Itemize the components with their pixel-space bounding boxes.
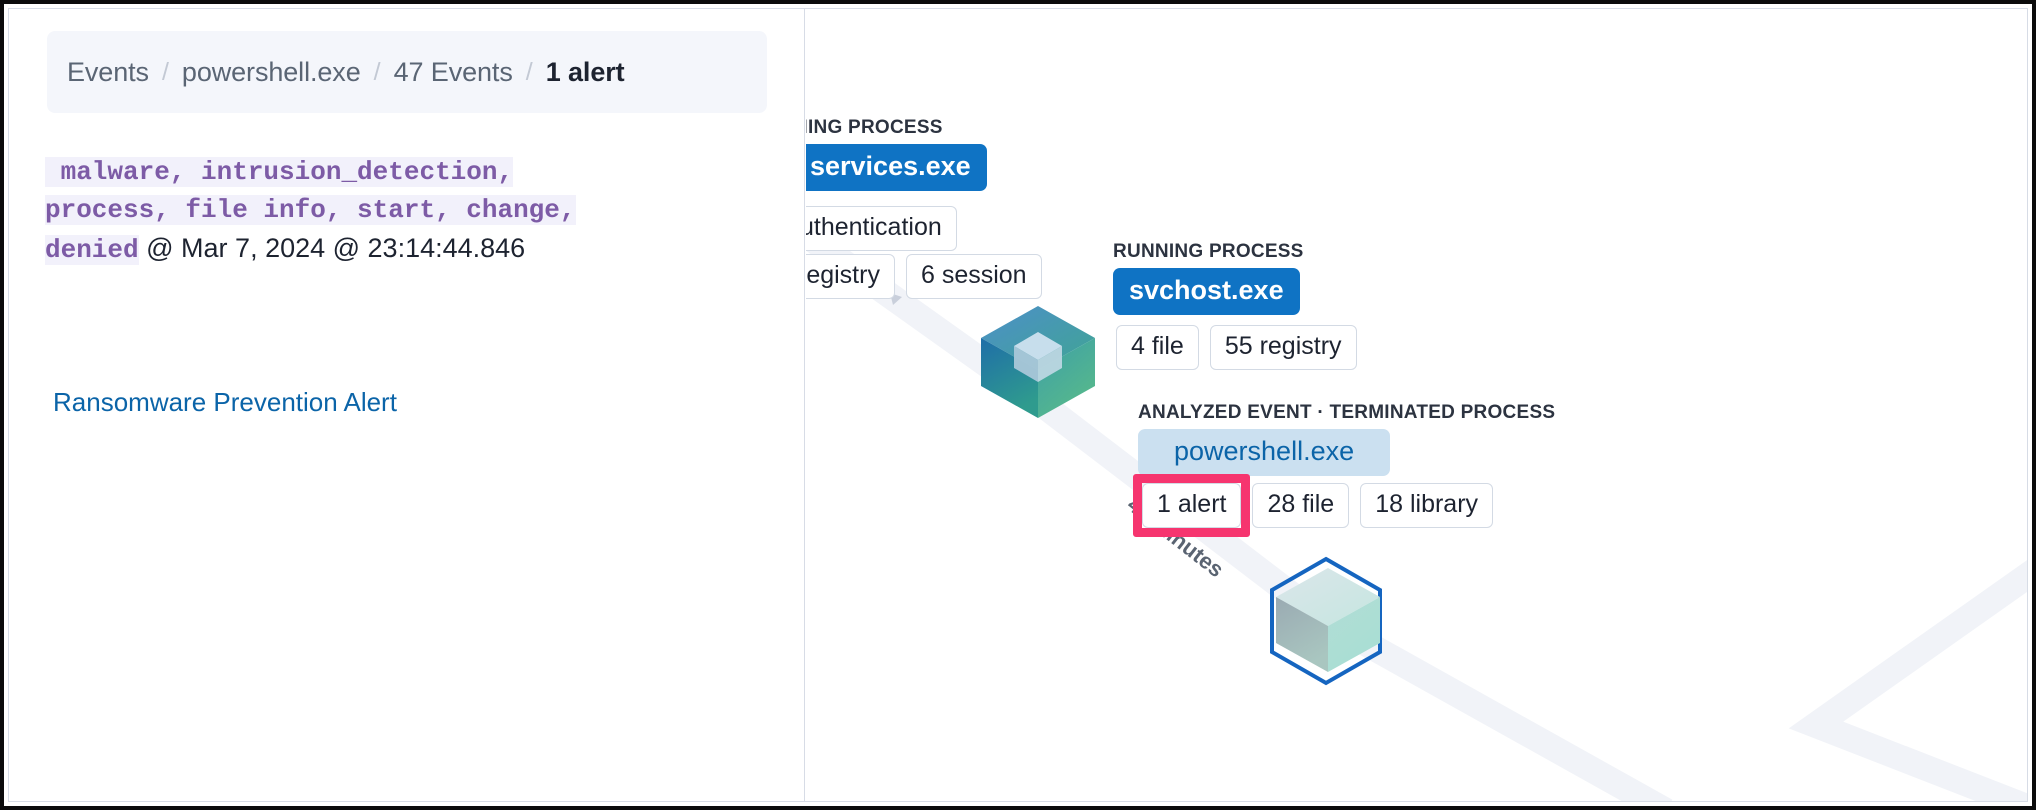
badge-registry[interactable]: registry xyxy=(806,254,895,299)
svchost-cube-icon xyxy=(977,302,1099,422)
node-powershell[interactable]: ANALYZED EVENT · TERMINATED PROCESS powe… xyxy=(1138,402,1555,476)
edge-powershell-down-right xyxy=(1816,569,2027,801)
badge-6-session[interactable]: 6 session xyxy=(906,254,1042,299)
alert-rule-link[interactable]: Ransomware Prevention Alert xyxy=(53,387,397,418)
event-tags-line-2: process, file info, start, change, xyxy=(45,195,576,225)
node-powershell-kind: ANALYZED EVENT · TERMINATED PROCESS xyxy=(1138,402,1555,424)
badge-4-file[interactable]: 4 file xyxy=(1116,325,1199,370)
badge-18-library[interactable]: 18 library xyxy=(1360,483,1493,528)
event-summary-line-1: malware, intrusion_detection, xyxy=(45,154,775,192)
breadcrumb-item-alert-count[interactable]: 1 alert xyxy=(546,57,625,88)
node-svchost-name[interactable]: svchost.exe xyxy=(1113,268,1300,315)
node-services-name[interactable]: services.exe xyxy=(806,144,987,191)
breadcrumb-item-process[interactable]: powershell.exe xyxy=(182,57,361,88)
node-powershell-name[interactable]: powershell.exe xyxy=(1138,429,1390,476)
node-services-kind: NING PROCESS xyxy=(806,117,987,139)
badge-row-svchost-1: 4 file 55 registry xyxy=(1116,325,1357,370)
badge-1-alert[interactable]: 1 alert xyxy=(1142,483,1241,528)
event-summary: malware, intrusion_detection, process, f… xyxy=(45,154,775,270)
badge-authentication[interactable]: uthentication xyxy=(806,206,957,251)
powershell-cube-icon xyxy=(1272,564,1384,676)
node-services[interactable]: NING PROCESS services.exe xyxy=(806,117,987,191)
event-tags-line-3: denied xyxy=(45,235,139,265)
breadcrumb-separator: / xyxy=(361,58,394,87)
node-svchost-kind: RUNNING PROCESS xyxy=(1113,241,1304,263)
event-summary-line-3: denied @ Mar 7, 2024 @ 23:14:44.846 xyxy=(45,229,775,270)
timestamp-separator: @ xyxy=(139,233,181,263)
breadcrumb-separator: / xyxy=(513,58,546,87)
breadcrumb-item-events-count[interactable]: 47 Events xyxy=(394,57,513,88)
process-graph-panel[interactable]: NING PROCESS services.exe uthentication … xyxy=(806,9,2027,801)
breadcrumb-separator: / xyxy=(149,58,182,87)
badge-28-file[interactable]: 28 file xyxy=(1252,483,1349,528)
app-viewport: Events / powershell.exe / 47 Events / 1 … xyxy=(8,8,2028,802)
screenshot-frame: Events / powershell.exe / 47 Events / 1 … xyxy=(0,0,2036,810)
badge-55-registry[interactable]: 55 registry xyxy=(1210,325,1357,370)
badge-row-services-2: registry 6 session xyxy=(806,254,1042,299)
badge-row-powershell-1: 1 alert 28 file 18 library xyxy=(1142,483,1493,528)
breadcrumb: Events / powershell.exe / 47 Events / 1 … xyxy=(47,31,767,113)
event-tags-line-1: malware, intrusion_detection, xyxy=(45,157,513,187)
event-summary-line-2: process, file info, start, change, xyxy=(45,192,775,230)
node-svchost[interactable]: RUNNING PROCESS svchost.exe xyxy=(1113,241,1304,315)
event-detail-panel: Events / powershell.exe / 47 Events / 1 … xyxy=(9,9,805,801)
breadcrumb-item-events[interactable]: Events xyxy=(67,57,149,88)
badge-row-services-1: uthentication xyxy=(806,206,957,251)
event-timestamp: Mar 7, 2024 @ 23:14:44.846 xyxy=(181,233,525,263)
